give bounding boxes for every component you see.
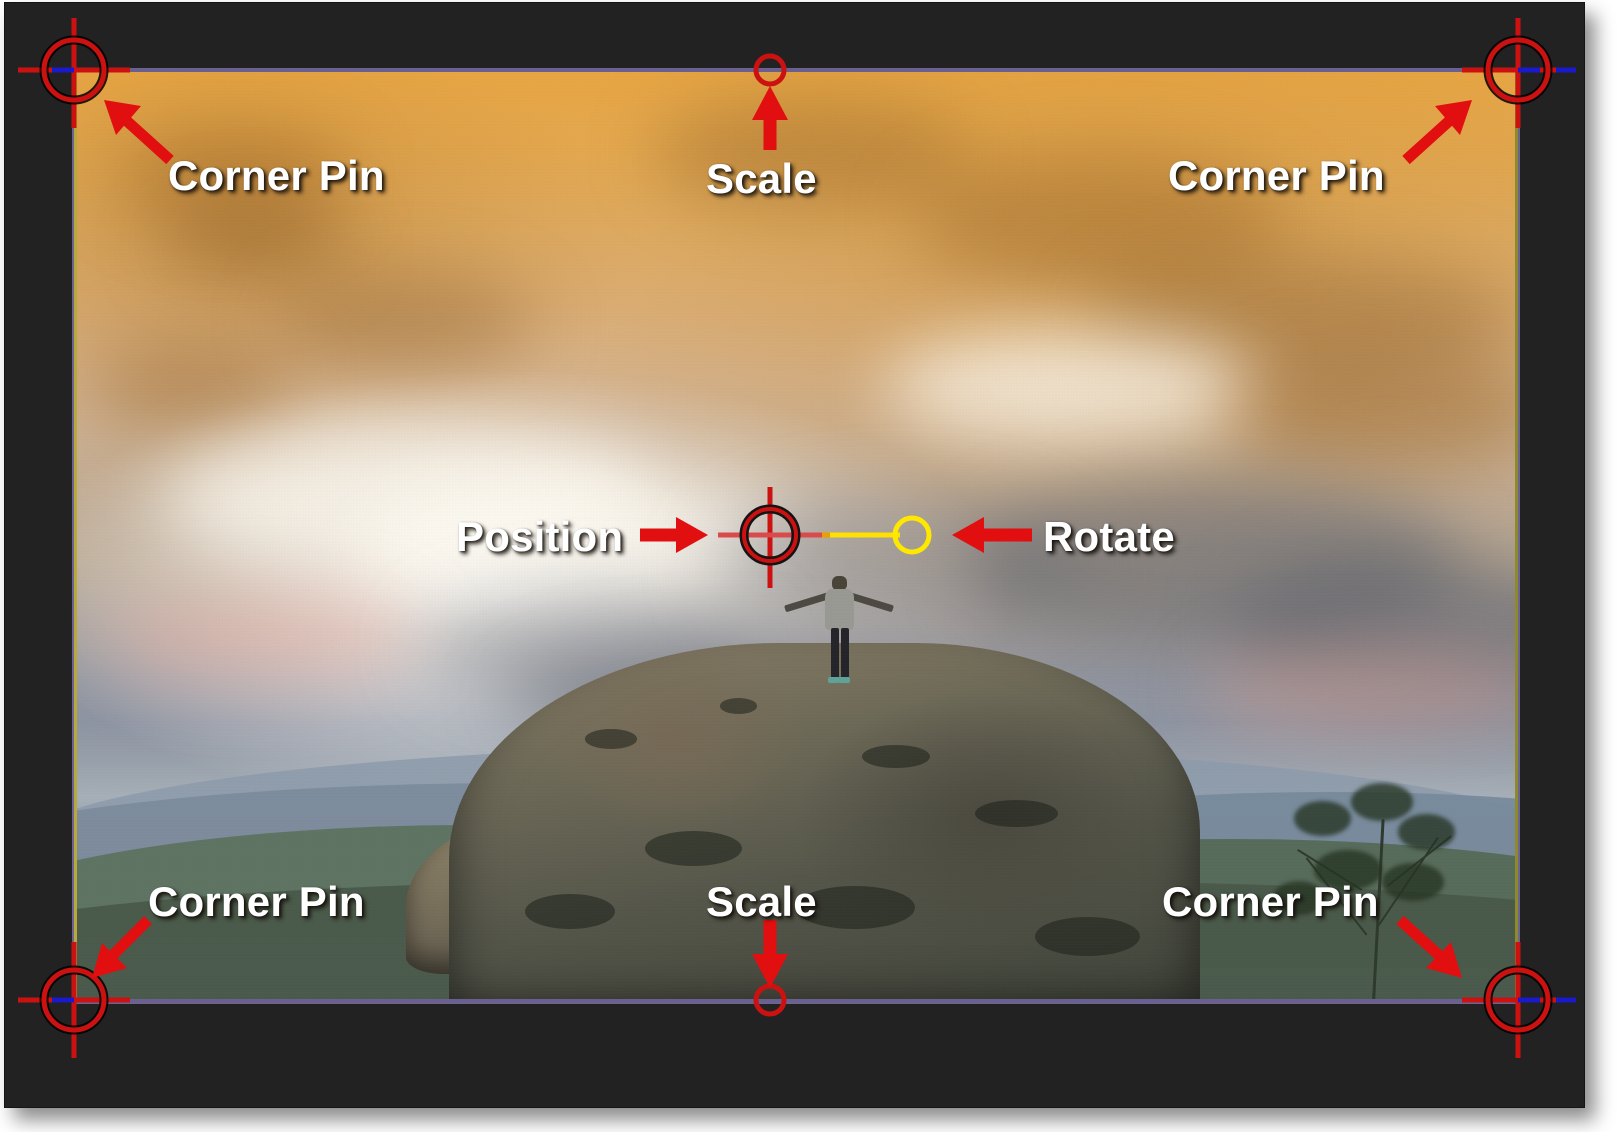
label-position: Position: [456, 513, 623, 561]
cloud-blob: [161, 200, 349, 284]
selection-edge-right[interactable]: [1515, 70, 1518, 1002]
selection-edge-bottom[interactable]: [74, 999, 1518, 1002]
person-arm-right: [848, 592, 894, 612]
person-head: [832, 576, 846, 590]
label-scale-bottom: Scale: [706, 878, 817, 926]
cloud-blob: [88, 340, 290, 433]
person-torso: [825, 589, 854, 630]
label-corner-pin-top-left: Corner Pin: [168, 152, 385, 200]
person-leg-left: [831, 628, 839, 678]
label-corner-pin-bottom-right: Corner Pin: [1162, 878, 1379, 926]
cloud-blob: [1200, 648, 1518, 732]
person-arm-left: [784, 592, 830, 612]
cloud-blob: [103, 592, 421, 685]
label-scale-top: Scale: [706, 155, 817, 203]
label-rotate: Rotate: [1043, 513, 1175, 561]
person-leg-right: [841, 628, 849, 678]
cloud-blob: [883, 331, 1258, 443]
selection-edge-left[interactable]: [74, 70, 77, 1002]
label-corner-pin-bottom-left: Corner Pin: [148, 878, 365, 926]
person-silhouette: [767, 576, 911, 762]
label-corner-pin-top-right: Corner Pin: [1168, 152, 1385, 200]
screenshot-stage: Corner Pin Scale Corner Pin Position Rot…: [0, 0, 1619, 1132]
person-shoe-right: [839, 677, 851, 683]
cloud-blob: [276, 275, 536, 368]
selection-edge-top[interactable]: [74, 69, 1518, 72]
transformed-image[interactable]: [74, 70, 1518, 1002]
